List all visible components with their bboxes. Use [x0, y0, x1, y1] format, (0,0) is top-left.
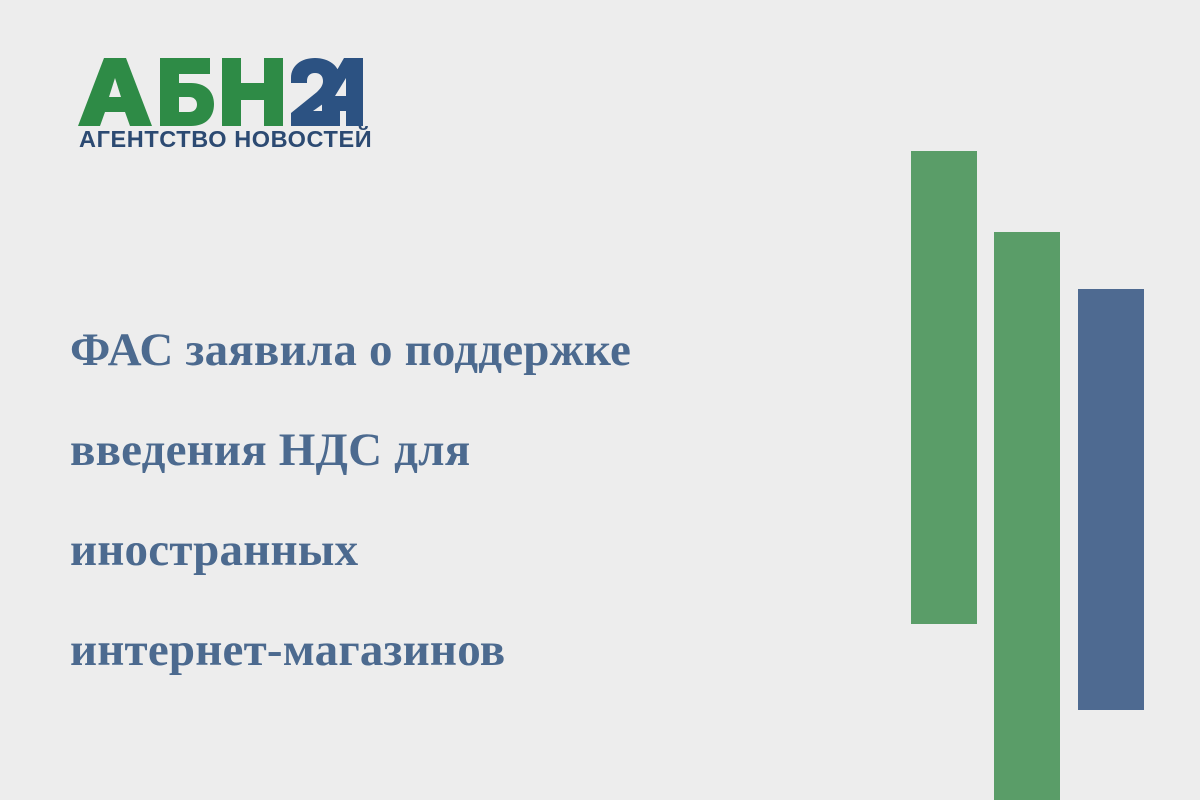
abn24-logo[interactable]: АГЕНТСТВО НОВОСТЕЙ: [78, 58, 378, 158]
chart-bar-1: [911, 151, 977, 624]
abn24-logo-mark: [78, 58, 363, 126]
headline-line-4: интернет-магазинов: [70, 600, 870, 700]
headline-line-1: ФАС заявила о поддержке: [70, 300, 870, 400]
page-title: ФАС заявила о поддержке введения НДС для…: [70, 300, 870, 700]
news-card: АГЕНТСТВО НОВОСТЕЙ ФАС заявила о поддерж…: [0, 0, 1200, 800]
headline-line-3: иностранных: [70, 500, 870, 600]
headline-line-2: введения НДС для: [70, 400, 870, 500]
chart-bar-3: [1078, 289, 1144, 710]
chart-bar-2: [994, 232, 1060, 800]
logo-tagline: АГЕНТСТВО НОВОСТЕЙ: [79, 128, 363, 152]
